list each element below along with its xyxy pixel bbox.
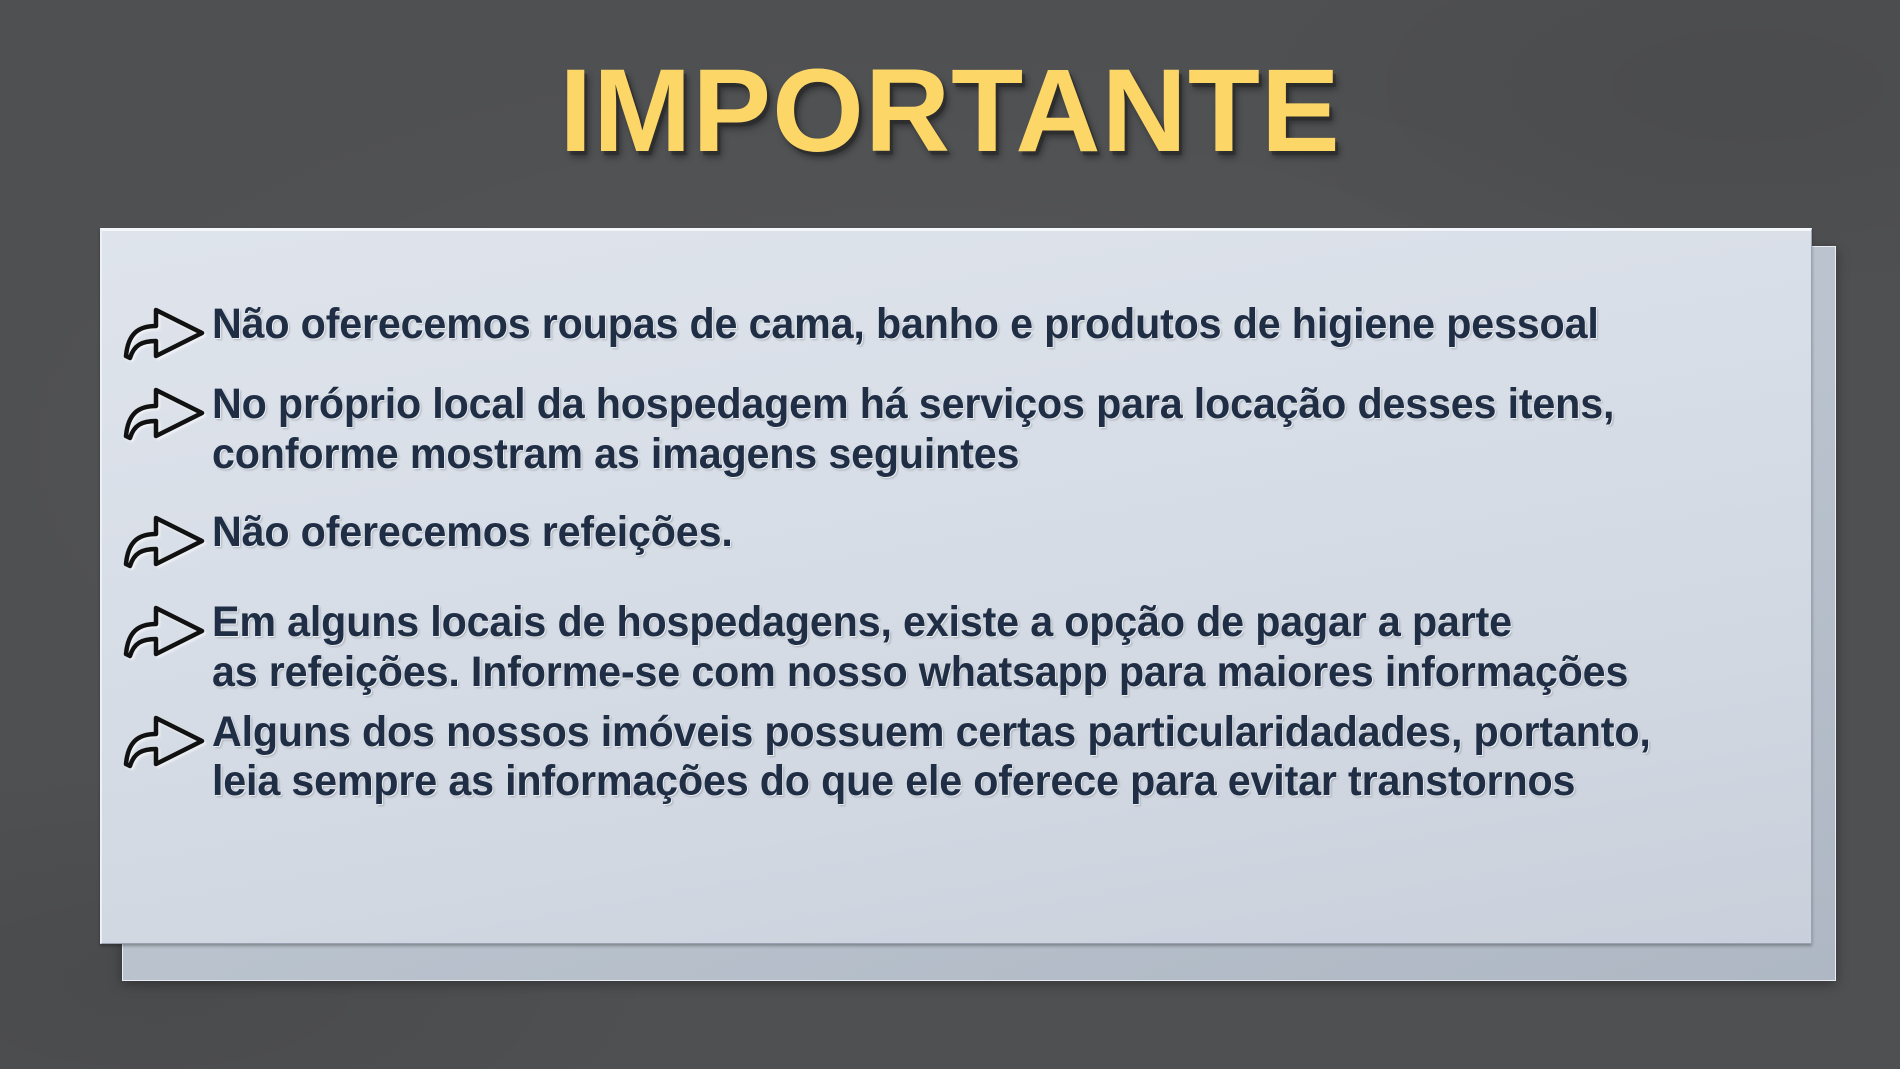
bullet-list: Não oferecemos roupas de cama, banho e p… xyxy=(122,300,1794,825)
list-item: No próprio local da hospedagem há serviç… xyxy=(122,380,1794,480)
list-item: Não oferecemos roupas de cama, banho e p… xyxy=(122,300,1794,362)
right-arrow-icon xyxy=(122,304,208,362)
list-item: Em alguns locais de hospedagens, existe … xyxy=(122,598,1794,698)
list-item-label: No próprio local da hospedagem há serviç… xyxy=(212,380,1731,480)
right-arrow-icon xyxy=(122,512,208,570)
content-panel: Não oferecemos roupas de cama, banho e p… xyxy=(100,228,1812,944)
page-title: IMPORTANTE xyxy=(0,52,1900,170)
list-item-label: Alguns dos nossos imóveis possuem certas… xyxy=(212,708,1731,808)
right-arrow-icon xyxy=(122,602,208,660)
list-item: Alguns dos nossos imóveis possuem certas… xyxy=(122,708,1794,808)
list-item: Não oferecemos refeições. xyxy=(122,508,1794,570)
content-card-stack: Não oferecemos roupas de cama, banho e p… xyxy=(100,228,1825,968)
right-arrow-icon xyxy=(122,384,208,442)
list-item-label: Não oferecemos roupas de cama, banho e p… xyxy=(212,300,1731,350)
right-arrow-icon xyxy=(122,712,208,770)
list-item-label: Não oferecemos refeições. xyxy=(212,508,1731,558)
list-item-label: Em alguns locais de hospedagens, existe … xyxy=(212,598,1731,698)
